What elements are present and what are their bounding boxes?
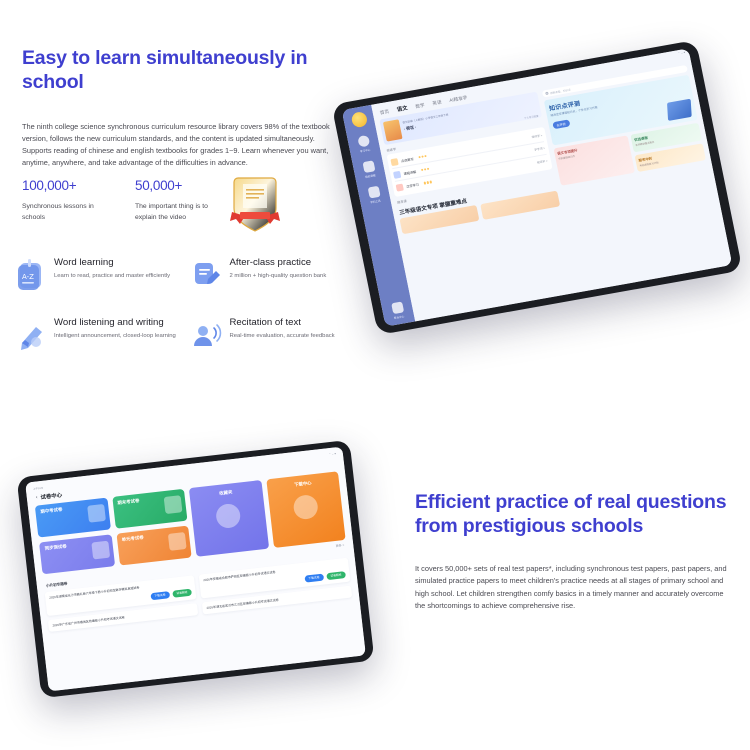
- stats-group: 100,000+ Synchronous lessons in schools …: [22, 178, 230, 223]
- feature-title: Word learning: [54, 257, 170, 268]
- section2-text-block: Efficient practice of real questions fro…: [415, 490, 735, 613]
- stat-item: 100,000+ Synchronous lessons in schools: [22, 178, 117, 223]
- row-title: 点读跟写: [400, 156, 414, 163]
- avatar[interactable]: [350, 111, 368, 128]
- folder-heart-icon: [215, 503, 242, 530]
- section2-title: Efficient practice of real questions fro…: [415, 490, 735, 539]
- tile-label: 收藏夹: [219, 489, 233, 496]
- tablet1-screen: 学习中心 精品课程 学科工具 家长中心: [342, 48, 733, 326]
- feature-title: Word listening and writing: [54, 317, 176, 328]
- download-paper-button[interactable]: 下载试卷: [150, 591, 170, 600]
- tablet2-screen: 上午9:26 ⌃ ⌄ ⏺ ‹ 试卷中心 期中考试卷: [25, 447, 366, 692]
- svg-text:A-Z: A-Z: [22, 273, 34, 281]
- row-title: 汉字学习: [406, 182, 420, 189]
- feature-item-word-learning[interactable]: A-Z Word learning Learn to read, practic…: [14, 255, 184, 289]
- feature-item-after-class-practice[interactable]: After-class practice 2 million + high-qu…: [190, 255, 360, 289]
- stat-label: Synchronous lessons in schools: [22, 202, 117, 223]
- sidebar-item-label: 学科工具: [370, 199, 381, 205]
- row-link[interactable]: 继续学 >: [531, 133, 542, 139]
- tile-midterm-papers[interactable]: 期中考试卷: [35, 498, 111, 538]
- row-link[interactable]: 继续学 >: [537, 159, 548, 165]
- book-cover: [383, 119, 403, 141]
- download-paper-button[interactable]: 下载试卷: [304, 573, 324, 582]
- sidebar-item-label: 学习中心: [360, 148, 371, 154]
- word-card-az-icon: A-Z: [14, 257, 48, 291]
- feature-list: A-Z Word learning Learn to read, practic…: [14, 255, 359, 375]
- stat-number: 100,000+: [22, 178, 117, 193]
- speaking-person-sound-icon: [190, 317, 224, 351]
- search-placeholder: 搜索课程、知识点: [550, 87, 571, 95]
- tile-favorites[interactable]: 收藏夹: [189, 480, 269, 557]
- tablet-device-papers: 上午9:26 ⌃ ⌄ ⏺ ‹ 试卷中心 期中考试卷: [17, 440, 375, 698]
- paper-analysis-button[interactable]: 试卷解析: [172, 588, 192, 597]
- tab-english[interactable]: 英语: [432, 100, 442, 107]
- section-school-learning: Easy to learn simultaneously in school T…: [0, 0, 750, 420]
- feature-item-recitation[interactable]: Recitation of text Real-time evaluation,…: [190, 315, 360, 349]
- feature-title: Recitation of text: [230, 317, 335, 328]
- course-icon: [393, 171, 401, 179]
- section1-text-block: Easy to learn simultaneously in school T…: [22, 46, 352, 169]
- row-link[interactable]: 学字词 >: [534, 146, 545, 152]
- start-assessment-button[interactable]: 去评测: [552, 119, 570, 129]
- tile-final-papers[interactable]: 期末考试卷: [112, 489, 188, 529]
- page-title: 试卷中心: [40, 491, 62, 501]
- section-real-questions: Efficient practice of real questions fro…: [0, 440, 750, 750]
- feature-desc: Intelligent announcement, closed-loop le…: [54, 332, 176, 341]
- sidebar-item-label: 家长中心: [394, 314, 405, 320]
- rating-stars: [421, 168, 430, 172]
- sidebar-item-premium[interactable]: 精品课程: [362, 160, 376, 179]
- tablet1-content: ⌃ ⌄ ⏺ 首页 语文 数学 英语 AI精准学: [371, 48, 732, 321]
- open-book-icon: [667, 99, 692, 121]
- feature-desc: 2 million + high-quality question bank: [230, 272, 327, 281]
- chevron-left-icon[interactable]: ‹: [36, 494, 38, 500]
- marketing-page: Easy to learn simultaneously in school T…: [0, 0, 750, 750]
- graduation-icon: [164, 495, 183, 514]
- section2-body: It covers 50,000+ sets of real test pape…: [415, 563, 733, 613]
- tab-home[interactable]: 首页: [379, 109, 389, 116]
- row-title: 课程讲解: [403, 169, 417, 176]
- page-title: Easy to learn simultaneously in school: [22, 46, 352, 95]
- checklist-icon: [168, 532, 187, 551]
- read-icon: [390, 158, 398, 166]
- family-icon: [391, 302, 404, 315]
- tile-download-center[interactable]: 下载中心: [266, 471, 346, 548]
- stat-number: 50,000+: [135, 178, 230, 193]
- search-icon: [545, 92, 549, 95]
- stat-item: 50,000+ The important thing is to explai…: [135, 178, 230, 223]
- apps-icon: [367, 186, 380, 199]
- rating-stars: [418, 155, 427, 159]
- feature-row: Word listening and writing Intelligent a…: [14, 315, 359, 349]
- papers-center-app: 上午9:26 ⌃ ⌄ ⏺ ‹ 试卷中心 期中考试卷: [25, 447, 366, 692]
- feature-row: A-Z Word learning Learn to read, practic…: [14, 255, 359, 289]
- feature-title: After-class practice: [230, 257, 327, 268]
- document-pen-icon: [190, 257, 224, 291]
- diamond-icon: [362, 160, 375, 173]
- feature-desc: Real-time evaluation, accurate feedback: [230, 332, 335, 341]
- paper-analysis-button[interactable]: 试卷解析: [326, 571, 346, 580]
- tab-math[interactable]: 数学: [415, 103, 425, 110]
- tile-label: 下载中心: [294, 480, 312, 488]
- download-cloud-icon: [292, 494, 319, 521]
- exam-paper-icon: [87, 504, 106, 523]
- grade-icon: [357, 135, 370, 148]
- pencil-write-icon: [14, 317, 48, 351]
- tile-unit-papers[interactable]: 单元考试卷: [116, 526, 192, 566]
- feature-item-word-listening-writing[interactable]: Word listening and writing Intelligent a…: [14, 315, 184, 349]
- tab-ai-learning[interactable]: AI精准学: [449, 95, 468, 104]
- feature-desc: Learn to read, practice and master effic…: [54, 272, 170, 281]
- notebook-pen-icon: [91, 541, 110, 560]
- sidebar-item-family[interactable]: 家长中心: [391, 302, 405, 321]
- stat-label: The important thing is to explain the vi…: [135, 202, 230, 223]
- tablet-device-home: 学习中心 精品课程 学科工具 家长中心: [331, 40, 742, 335]
- rating-stars: [423, 181, 432, 185]
- sidebar-item-grade[interactable]: 学习中心: [357, 135, 371, 154]
- tile-sync-papers[interactable]: 同步测试卷: [39, 534, 115, 574]
- sidebar-item-tools[interactable]: 学科工具: [367, 186, 381, 205]
- certificate-ribbon-icon: [218, 172, 292, 238]
- sidebar-item-label: 精品课程: [365, 173, 376, 179]
- character-icon: [396, 184, 404, 192]
- tab-chinese[interactable]: 语文: [396, 104, 408, 114]
- section1-body: The ninth college science synchronous cu…: [22, 121, 334, 169]
